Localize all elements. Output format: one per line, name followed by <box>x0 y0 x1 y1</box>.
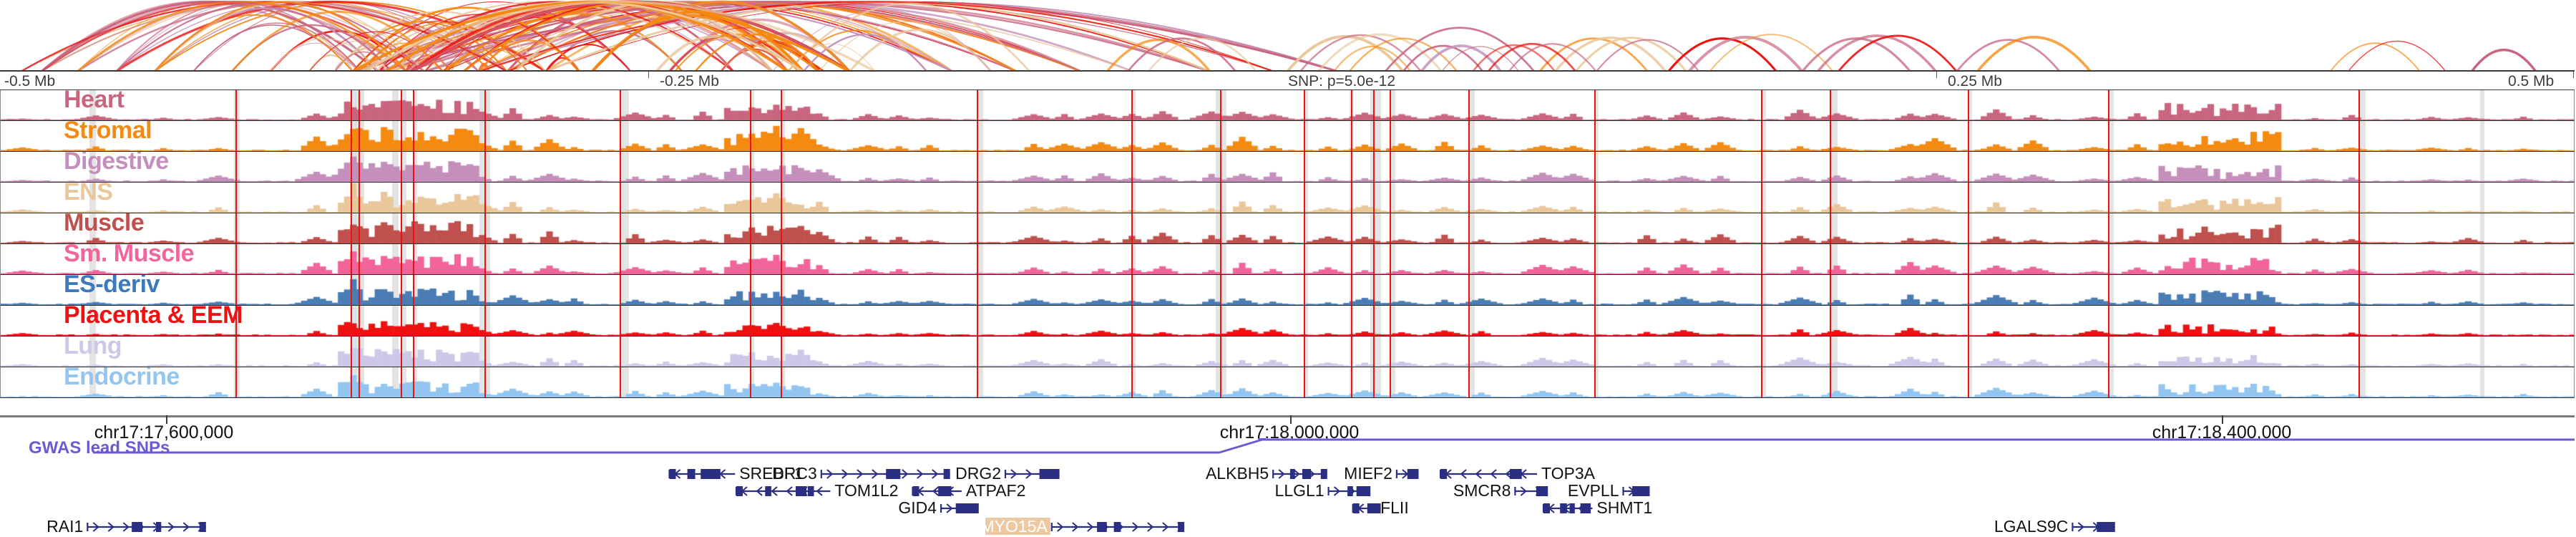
snp-marker-line <box>750 183 751 213</box>
signal-track-stack: HeartStromalDigestiveENSMuscleSm. Muscle… <box>0 90 2575 398</box>
snp-marker-line <box>1131 244 1133 274</box>
snp-marker-line <box>484 275 486 305</box>
snp-marker-line <box>1220 152 1221 182</box>
snp-marker-line <box>750 121 751 151</box>
snp-marker-line <box>484 367 486 397</box>
snp-marker-line <box>620 275 621 305</box>
snp-marker-line <box>1594 121 1596 151</box>
snp-marker-line <box>1830 183 1831 213</box>
signal-waveform <box>1 183 2575 213</box>
snp-marker-line <box>781 152 782 182</box>
snp-marker-line <box>1594 152 1596 182</box>
snp-marker-line <box>1761 275 1762 305</box>
snp-marker-line <box>2108 275 2109 305</box>
snp-marker-line <box>2108 121 2109 151</box>
snp-marker-line <box>401 152 402 182</box>
snp-marker-line <box>1968 306 1969 336</box>
snp-marker-line <box>1468 275 1470 305</box>
snp-marker-line <box>977 121 978 151</box>
snp-marker-line <box>1390 367 1391 397</box>
snp-marker-line <box>1390 213 1391 243</box>
snp-marker-line <box>401 244 402 274</box>
snp-marker-line <box>1351 244 1352 274</box>
signal-track-stromal[interactable]: Stromal <box>0 121 2575 152</box>
snp-marker-line <box>401 90 402 120</box>
ruler-tick-neg-0-25 <box>648 72 649 78</box>
snp-marker-line <box>235 183 237 213</box>
snp-marker-line <box>1131 152 1133 182</box>
snp-marker-line <box>2108 90 2109 120</box>
snp-marker-line <box>351 367 352 397</box>
snp-marker-line <box>1131 90 1133 120</box>
snp-marker-line <box>235 275 237 305</box>
snp-marker-line <box>1968 275 1969 305</box>
svg-text:ATPAF2: ATPAF2 <box>966 481 1026 500</box>
signal-track-heart[interactable]: Heart <box>0 90 2575 121</box>
snp-marker-line <box>2358 152 2360 182</box>
snp-marker-line <box>2108 183 2109 213</box>
snp-marker-line <box>1594 213 1596 243</box>
snp-marker-line <box>1351 90 1352 120</box>
snp-marker-line <box>413 337 414 367</box>
snp-marker-line <box>484 213 486 243</box>
gwas-connector-svg <box>0 438 2576 460</box>
snp-marker-line <box>401 367 402 397</box>
snp-marker-line <box>2108 306 2109 336</box>
snp-marker-line <box>781 121 782 151</box>
gwas-lead-snp-row: GWAS lead SNPs <box>0 438 2575 460</box>
ruler-tick-pos-0-5 <box>2573 72 2574 78</box>
snp-marker-line <box>351 306 352 336</box>
snp-marker-line <box>620 90 621 120</box>
snp-marker-line <box>358 244 360 274</box>
snp-marker-line <box>1830 121 1831 151</box>
snp-marker-line <box>401 121 402 151</box>
svg-text:DRC3: DRC3 <box>772 464 817 483</box>
svg-text:FLII: FLII <box>1380 498 1409 517</box>
snp-marker-line <box>1390 183 1391 213</box>
snp-marker-line <box>1468 367 1470 397</box>
snp-marker-line <box>1351 367 1352 397</box>
snp-marker-line <box>750 275 751 305</box>
gene-model-svg: SREBF1DRC3DRG2ALKBH5MIEF2TOP3ATOM1L2ATPA… <box>0 458 2576 537</box>
snp-marker-line <box>1968 152 1969 182</box>
snp-marker-line <box>358 90 360 120</box>
snp-marker-line <box>235 244 237 274</box>
snp-marker-line <box>1968 213 1969 243</box>
snp-marker-line <box>1304 213 1305 243</box>
snp-marker-line <box>358 306 360 336</box>
offset-ruler: -0.5 Mb -0.25 Mb SNP: p=5.0e-12 0.25 Mb … <box>0 70 2575 90</box>
snp-marker-line <box>2108 337 2109 367</box>
snp-marker-line <box>977 244 978 274</box>
snp-marker-line <box>401 337 402 367</box>
snp-marker-line <box>977 90 978 120</box>
snp-marker-line <box>750 367 751 397</box>
snp-marker-line <box>1304 244 1305 274</box>
snp-marker-line <box>1830 90 1831 120</box>
snp-marker-line <box>1594 275 1596 305</box>
snp-marker-line <box>781 213 782 243</box>
snp-marker-line <box>413 152 414 182</box>
snp-marker-line <box>1968 337 1969 367</box>
snp-marker-line <box>1304 152 1305 182</box>
snp-marker-line <box>1594 306 1596 336</box>
snp-marker-line <box>351 90 352 120</box>
snp-marker-line <box>781 244 782 274</box>
signal-track-muscle[interactable]: Muscle <box>0 213 2575 244</box>
snp-marker-line <box>1131 121 1133 151</box>
snp-marker-line <box>2358 367 2360 397</box>
snp-marker-line <box>1761 367 1762 397</box>
snp-marker-line <box>1968 367 1969 397</box>
snp-marker-line <box>2108 367 2109 397</box>
snp-marker-line <box>1351 121 1352 151</box>
snp-marker-line <box>1373 183 1375 213</box>
ruler-tick-pos-0-25 <box>1936 72 1937 78</box>
svg-text:MIEF2: MIEF2 <box>1344 464 1392 483</box>
snp-marker-line <box>620 121 621 151</box>
snp-marker-line <box>1390 244 1391 274</box>
arc-svg <box>0 0 2576 72</box>
snp-marker-line <box>1468 306 1470 336</box>
signal-track-endocrine[interactable]: Endocrine <box>0 367 2575 398</box>
snp-marker-line <box>750 306 751 336</box>
snp-marker-line <box>1373 337 1375 367</box>
snp-marker-line <box>235 121 237 151</box>
signal-track-ens[interactable]: ENS <box>0 183 2575 213</box>
snp-marker-line <box>235 367 237 397</box>
snp-marker-line <box>1390 152 1391 182</box>
snp-marker-line <box>358 183 360 213</box>
snp-marker-line <box>1390 337 1391 367</box>
snp-marker-line <box>1761 152 1762 182</box>
snp-marker-line <box>1390 306 1391 336</box>
svg-text:RAI1: RAI1 <box>47 517 83 536</box>
snp-marker-line <box>358 121 360 151</box>
svg-text:GID4: GID4 <box>898 498 937 517</box>
snp-marker-line <box>401 306 402 336</box>
snp-marker-line <box>235 213 237 243</box>
snp-marker-line <box>2108 152 2109 182</box>
snp-marker-line <box>1390 275 1391 305</box>
snp-marker-line <box>1304 183 1305 213</box>
snp-marker-line <box>1761 244 1762 274</box>
signal-track-es-deriv[interactable]: ES-deriv <box>0 275 2575 306</box>
snp-marker-line <box>358 213 360 243</box>
snp-marker-line <box>413 213 414 243</box>
snp-marker-line <box>1830 337 1831 367</box>
snp-marker-line <box>2358 213 2360 243</box>
svg-text:EVPLL: EVPLL <box>1568 481 1619 500</box>
snp-marker-line <box>1373 121 1375 151</box>
coordinate-axis: chr17:17,600,000 chr17:18,000,000 chr17:… <box>0 415 2575 440</box>
snp-marker-line <box>977 275 978 305</box>
snp-marker-line <box>1468 244 1470 274</box>
snp-marker-line <box>2358 337 2360 367</box>
snp-marker-line <box>413 121 414 151</box>
snp-marker-line <box>1468 90 1470 120</box>
snp-marker-line <box>1373 152 1375 182</box>
signal-track-sm-muscle[interactable]: Sm. Muscle <box>0 244 2575 275</box>
snp-marker-line <box>1390 121 1391 151</box>
snp-marker-line <box>781 275 782 305</box>
snp-marker-line <box>351 275 352 305</box>
snp-marker-line <box>1373 213 1375 243</box>
snp-marker-line <box>1304 337 1305 367</box>
snp-marker-line <box>358 367 360 397</box>
gene-annotation-track: SREBF1DRC3DRG2ALKBH5MIEF2TOP3ATOM1L2ATPA… <box>0 458 2576 537</box>
snp-marker-line <box>1351 337 1352 367</box>
snp-marker-line <box>1761 306 1762 336</box>
svg-text:TOP3A: TOP3A <box>1541 464 1596 483</box>
snp-marker-line <box>620 337 621 367</box>
signal-waveform <box>1 275 2575 305</box>
gwas-lead-snps-label: GWAS lead SNPs <box>29 438 170 458</box>
snp-marker-line <box>750 337 751 367</box>
snp-marker-line <box>401 183 402 213</box>
snp-marker-line <box>1351 306 1352 336</box>
snp-marker-line <box>1594 367 1596 397</box>
snp-marker-line <box>2358 183 2360 213</box>
signal-waveform <box>1 213 2575 243</box>
svg-text:TOM1L2: TOM1L2 <box>834 481 898 500</box>
snp-marker-line <box>750 213 751 243</box>
signal-waveform <box>1 337 2575 367</box>
snp-marker-line <box>1131 183 1133 213</box>
snp-marker-line <box>2358 306 2360 336</box>
signal-waveform <box>1 306 2575 336</box>
snp-marker-line <box>2358 244 2360 274</box>
snp-marker-line <box>2108 244 2109 274</box>
snp-marker-line <box>781 337 782 367</box>
signal-waveform <box>1 244 2575 274</box>
snp-marker-line <box>1761 183 1762 213</box>
ruler-label-neg-0-25: -0.25 Mb <box>660 73 719 90</box>
snp-marker-line <box>1220 275 1221 305</box>
genome-browser-view: -0.5 Mb -0.25 Mb SNP: p=5.0e-12 0.25 Mb … <box>0 0 2576 537</box>
snp-marker-line <box>1351 152 1352 182</box>
snp-marker-line <box>1968 183 1969 213</box>
snp-marker-line <box>1830 244 1831 274</box>
snp-marker-line <box>413 367 414 397</box>
snp-marker-line <box>1594 244 1596 274</box>
snp-marker-line <box>1830 213 1831 243</box>
snp-marker-line <box>1390 90 1391 120</box>
snp-marker-line <box>1761 121 1762 151</box>
snp-marker-line <box>977 337 978 367</box>
snp-marker-line <box>1373 275 1375 305</box>
snp-marker-line <box>235 152 237 182</box>
snp-marker-line <box>620 367 621 397</box>
snp-marker-line <box>1468 152 1470 182</box>
signal-track-lung[interactable]: Lung <box>0 337 2575 367</box>
snp-marker-line <box>484 337 486 367</box>
snp-marker-line <box>1351 213 1352 243</box>
snp-marker-line <box>1220 306 1221 336</box>
snp-marker-line <box>1761 337 1762 367</box>
gwas-connector-track <box>0 438 2575 460</box>
snp-marker-line <box>1761 213 1762 243</box>
signal-waveform <box>1 367 2575 397</box>
snp-marker-line <box>1373 90 1375 120</box>
snp-marker-line <box>977 213 978 243</box>
snp-marker-line <box>1594 90 1596 120</box>
snp-marker-line <box>1373 244 1375 274</box>
snp-marker-line <box>484 244 486 274</box>
svg-text:SMCR8: SMCR8 <box>1453 481 1511 500</box>
snp-marker-line <box>977 367 978 397</box>
signal-waveform <box>1 90 2575 120</box>
snp-marker-line <box>235 337 237 367</box>
svg-text:LGALS9C: LGALS9C <box>1994 517 2069 536</box>
snp-marker-line <box>351 183 352 213</box>
snp-marker-line <box>484 121 486 151</box>
snp-marker-line <box>1131 213 1133 243</box>
snp-marker-line <box>1468 121 1470 151</box>
snp-marker-line <box>1761 90 1762 120</box>
signal-waveform <box>1 121 2575 151</box>
snp-marker-line <box>484 306 486 336</box>
snp-marker-line <box>750 244 751 274</box>
svg-text:ALKBH5: ALKBH5 <box>1206 464 1269 483</box>
svg-text:SHMT1: SHMT1 <box>1596 498 1652 517</box>
svg-text:DRG2: DRG2 <box>955 464 1001 483</box>
snp-marker-line <box>1304 275 1305 305</box>
snp-marker-line <box>1373 367 1375 397</box>
snp-marker-line <box>1220 367 1221 397</box>
ruler-label-pos-0-25: 0.25 Mb <box>1948 73 2002 90</box>
snp-marker-line <box>401 213 402 243</box>
snp-marker-line <box>413 306 414 336</box>
snp-marker-line <box>2108 213 2109 243</box>
snp-marker-line <box>1594 337 1596 367</box>
snp-marker-line <box>1220 121 1221 151</box>
snp-marker-line <box>1304 121 1305 151</box>
snp-marker-line <box>1968 121 1969 151</box>
snp-marker-line <box>358 337 360 367</box>
snp-marker-line <box>413 244 414 274</box>
snp-marker-line <box>1830 367 1831 397</box>
snp-marker-line <box>351 213 352 243</box>
snp-marker-line <box>620 306 621 336</box>
snp-marker-line <box>413 183 414 213</box>
signal-track-placenta-eem[interactable]: Placenta & EEM <box>0 306 2575 337</box>
snp-marker-line <box>1220 337 1221 367</box>
chromatin-interaction-arc-panel <box>0 0 2576 72</box>
snp-marker-line <box>1351 183 1352 213</box>
snp-marker-line <box>484 183 486 213</box>
snp-marker-line <box>351 337 352 367</box>
svg-text:LLGL1: LLGL1 <box>1275 481 1324 500</box>
snp-pvalue-annotation: SNP: p=5.0e-12 <box>1288 73 1395 90</box>
snp-marker-line <box>781 306 782 336</box>
snp-marker-line <box>358 275 360 305</box>
snp-marker-line <box>620 244 621 274</box>
snp-marker-line <box>1220 213 1221 243</box>
snp-marker-line <box>1468 183 1470 213</box>
snp-marker-line <box>2358 275 2360 305</box>
snp-marker-line <box>351 244 352 274</box>
snp-marker-line <box>484 90 486 120</box>
axis-rule <box>0 415 2575 417</box>
snp-marker-line <box>750 90 751 120</box>
snp-marker-line <box>620 183 621 213</box>
snp-marker-line <box>1594 183 1596 213</box>
snp-marker-line <box>401 275 402 305</box>
snp-marker-line <box>1220 244 1221 274</box>
ruler-label-neg-0-5: -0.5 Mb <box>4 73 55 90</box>
snp-marker-line <box>1131 367 1133 397</box>
snp-marker-line <box>1468 213 1470 243</box>
snp-marker-line <box>351 152 352 182</box>
snp-marker-line <box>977 306 978 336</box>
snp-marker-line <box>1220 183 1221 213</box>
snp-marker-line <box>1304 90 1305 120</box>
snp-marker-line <box>620 152 621 182</box>
snp-marker-line <box>1830 275 1831 305</box>
snp-marker-line <box>484 152 486 182</box>
svg-text:MYO15A: MYO15A <box>980 517 1048 536</box>
snp-marker-line <box>1304 367 1305 397</box>
snp-marker-line <box>1131 337 1133 367</box>
snp-marker-line <box>1131 275 1133 305</box>
snp-marker-line <box>235 90 237 120</box>
snp-marker-line <box>1830 306 1831 336</box>
snp-marker-line <box>1968 90 1969 120</box>
snp-marker-line <box>781 183 782 213</box>
snp-marker-line <box>620 213 621 243</box>
snp-marker-line <box>2358 90 2360 120</box>
snp-marker-line <box>977 183 978 213</box>
snp-marker-line <box>1131 306 1133 336</box>
snp-marker-line <box>358 152 360 182</box>
snp-marker-line <box>351 121 352 151</box>
snp-marker-line <box>413 275 414 305</box>
snp-marker-line <box>413 90 414 120</box>
signal-waveform <box>1 152 2575 182</box>
snp-marker-line <box>1351 275 1352 305</box>
snp-marker-line <box>1304 306 1305 336</box>
snp-marker-line <box>781 367 782 397</box>
snp-marker-line <box>750 152 751 182</box>
snp-marker-line <box>1968 244 1969 274</box>
snp-marker-line <box>1373 306 1375 336</box>
snp-marker-line <box>1830 152 1831 182</box>
snp-marker-line <box>781 90 782 120</box>
snp-marker-line <box>1220 90 1221 120</box>
snp-marker-line <box>2358 121 2360 151</box>
ruler-label-pos-0-5: 0.5 Mb <box>2508 73 2554 90</box>
snp-marker-line <box>977 152 978 182</box>
snp-marker-line <box>1468 337 1470 367</box>
snp-marker-line <box>235 306 237 336</box>
signal-track-digestive[interactable]: Digestive <box>0 152 2575 183</box>
